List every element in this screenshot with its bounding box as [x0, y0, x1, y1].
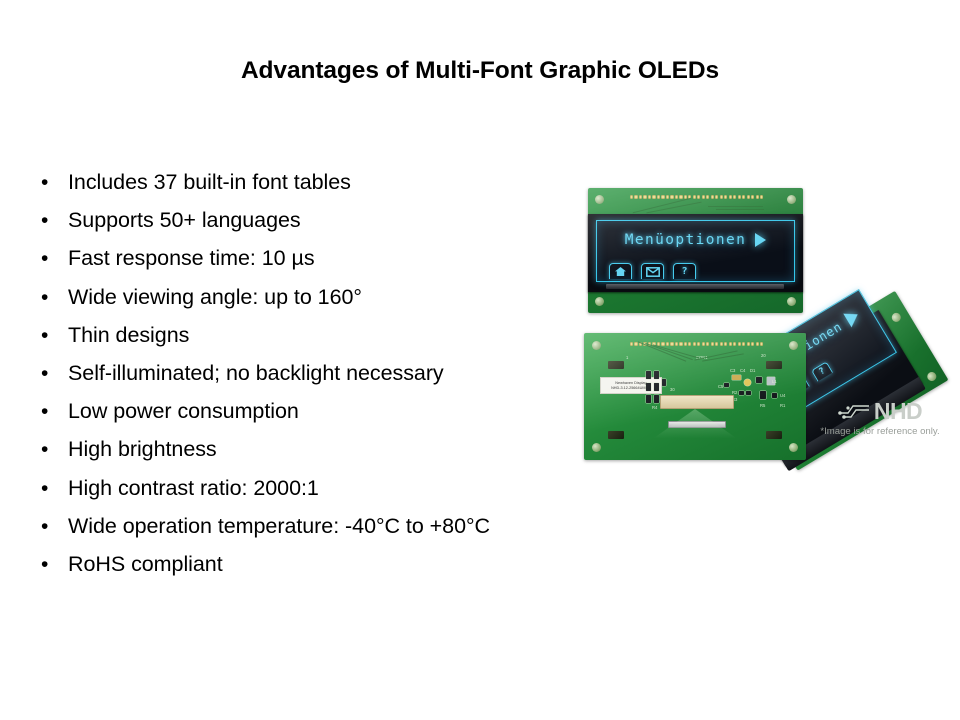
oled-module-pcb-back-view: 1 CON1 20 Newhaven Display NHD-3.12-2566… [584, 333, 806, 460]
bullet-marker-icon: • [38, 210, 68, 231]
smd-component [772, 393, 777, 398]
oled-tab-row: ? [609, 263, 696, 279]
list-item: • High brightness [38, 437, 578, 475]
silkscreen-text: D1 [750, 368, 755, 373]
bullet-marker-icon: • [38, 401, 68, 422]
fpc-connector [660, 395, 734, 409]
silkscreen-text: 30 [670, 387, 675, 392]
silkscreen-text: R1 [780, 403, 785, 408]
list-item-label: Wide viewing angle: up to 160° [68, 285, 362, 310]
bullet-marker-icon: • [38, 554, 68, 575]
mail-icon [641, 263, 664, 279]
mounting-hole [789, 443, 798, 452]
oled-menu-text: Menüoptionen [625, 232, 747, 248]
metal-clip [766, 431, 782, 439]
mounting-hole [787, 297, 796, 306]
mounting-hole [595, 297, 604, 306]
mounting-hole [592, 443, 601, 452]
product-photo-group: Menüoptionen [560, 170, 960, 470]
bullet-marker-icon: • [38, 172, 68, 193]
silkscreen-text: R4 [652, 405, 657, 410]
advantages-bullet-list: • Includes 37 built-in font tables • Sup… [38, 170, 578, 590]
pcb-trace [708, 206, 763, 207]
bullet-marker-icon: • [38, 287, 68, 308]
oled-screen: Menüoptionen [596, 220, 795, 282]
nhd-watermark: NHD *Image is for reference only. [800, 398, 960, 437]
list-item-label: Self-illuminated; no backlight necessary [68, 361, 444, 386]
silkscreen-text: U4 [780, 393, 785, 398]
help-icon: ? [811, 361, 833, 381]
list-item: • Supports 50+ languages [38, 208, 578, 246]
pin-header [630, 195, 763, 199]
list-item: • Fast response time: 10 µs [38, 246, 578, 284]
silkscreen-text: 1 [626, 355, 628, 360]
mounting-hole [789, 341, 798, 350]
list-item: • Wide operation temperature: -40°C to +… [38, 514, 578, 552]
silkscreen-text: C4 [740, 368, 745, 373]
list-item: • High contrast ratio: 2000:1 [38, 476, 578, 514]
smd-component [756, 377, 762, 383]
reference-only-note: *Image is for reference only. [800, 426, 960, 437]
nhd-circuit-icon [838, 399, 872, 424]
bullet-marker-icon: • [38, 439, 68, 460]
nhd-logo: NHD [800, 398, 960, 425]
list-item-label: Wide operation temperature: -40°C to +80… [68, 514, 490, 539]
smd-component [760, 391, 766, 399]
silkscreen-text: C3 [730, 368, 735, 373]
smd-component [654, 371, 659, 379]
list-item-label: High brightness [68, 437, 217, 462]
help-icon: ? [673, 263, 696, 279]
oled-text-line: Menüoptionen [597, 229, 794, 251]
mounting-hole [592, 341, 601, 350]
list-item-label: Supports 50+ languages [68, 208, 301, 233]
smd-component [732, 375, 741, 380]
list-item-label: High contrast ratio: 2000:1 [68, 476, 319, 501]
display-lower-edge [606, 284, 784, 289]
list-item: • Includes 37 built-in font tables [38, 170, 578, 208]
smd-component [739, 391, 744, 395]
smd-component [744, 379, 751, 386]
metal-clip [608, 431, 624, 439]
list-item-label: Includes 37 built-in font tables [68, 170, 351, 195]
bullet-marker-icon: • [38, 363, 68, 384]
smd-component [724, 383, 729, 387]
smd-component [654, 383, 659, 391]
smd-component [662, 379, 666, 386]
silkscreen-text: R5 [760, 403, 765, 408]
slide-canvas: Advantages of Multi-Font Graphic OLEDs •… [0, 0, 960, 720]
list-item: • Self-illuminated; no backlight necessa… [38, 361, 578, 399]
list-item-label: RoHS compliant [68, 552, 223, 577]
metal-clip [766, 361, 782, 369]
help-glyph: ? [681, 267, 687, 277]
list-item: • Thin designs [38, 323, 578, 361]
play-arrow-icon [843, 307, 862, 327]
list-item: • Wide viewing angle: up to 160° [38, 285, 578, 323]
bullet-marker-icon: • [38, 248, 68, 269]
play-arrow-icon [755, 233, 766, 247]
bullet-marker-icon: • [38, 325, 68, 346]
list-item: • RoHS compliant [38, 552, 578, 590]
list-item-label: Low power consumption [68, 399, 299, 424]
smd-component [746, 391, 751, 395]
smd-component [646, 383, 651, 391]
smd-component [646, 395, 651, 403]
nhd-logo-text: NHD [874, 398, 922, 425]
mounting-hole [787, 195, 796, 204]
label-part-number: NHD-3.12-25664UMB3 [611, 385, 650, 389]
silkscreen-text: 20 [761, 353, 766, 358]
page-title: Advantages of Multi-Font Graphic OLEDs [0, 57, 960, 85]
smd-component [646, 371, 651, 379]
mounting-hole [595, 195, 604, 204]
list-item: • Low power consumption [38, 399, 578, 437]
part-number-label: Newhaven Display NHD-3.12-25664UMB3 [600, 377, 662, 394]
oled-module-front-view: Menüoptionen [588, 188, 803, 313]
bullet-marker-icon: • [38, 478, 68, 499]
list-item-label: Thin designs [68, 323, 189, 348]
bullet-marker-icon: • [38, 516, 68, 537]
metal-clip [608, 361, 624, 369]
home-icon [609, 263, 632, 279]
list-item-label: Fast response time: 10 µs [68, 246, 315, 271]
help-glyph: ? [818, 367, 827, 378]
pcb-trace [716, 209, 764, 210]
silkscreen-text: C5 [718, 384, 723, 389]
smd-component [654, 395, 659, 403]
silkscreen-text: L1 [772, 379, 777, 384]
